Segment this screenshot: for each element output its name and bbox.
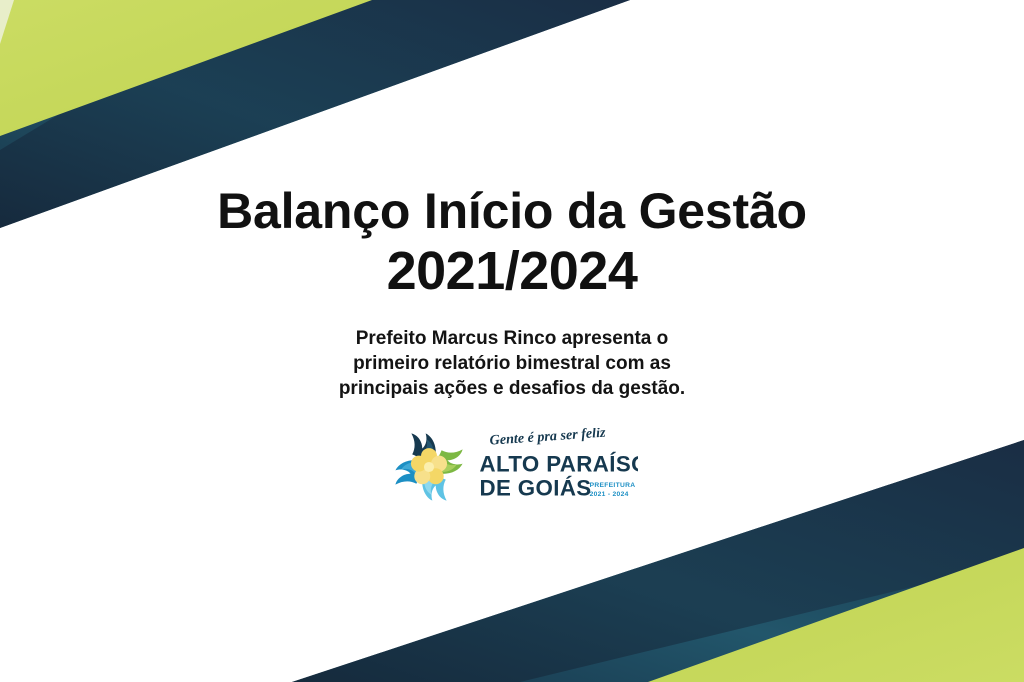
subtitle-line-1: Prefeito Marcus Rinco apresenta o [339,326,685,351]
title-line-1: Balanço Início da Gestão [217,186,807,236]
title-line-2: 2021/2024 [217,244,807,298]
logo-city-line-1: ALTO PARAÍSO [479,452,638,477]
logo-city-line-2: DE GOIÁS [479,476,591,501]
logo-wordmark: Gente é pra ser feliz ALTO PARAÍSO DE GO… [478,428,638,506]
subtitle-line-2: primeiro relatório bimestral com as [339,351,685,376]
subtitle-line-3: principais ações e desafios da gestão. [339,376,685,401]
page-title: Balanço Início da Gestão 2021/2024 [217,186,807,298]
slide-content: Balanço Início da Gestão 2021/2024 Prefe… [0,0,1024,682]
municipal-logo: Gente é pra ser feliz ALTO PARAÍSO DE GO… [386,425,638,509]
alto-paraiso-emblem-icon [386,425,472,509]
cover-slide: Balanço Início da Gestão 2021/2024 Prefe… [0,0,1024,682]
subtitle: Prefeito Marcus Rinco apresenta o primei… [339,326,685,401]
logo-script-tagline: Gente é pra ser feliz [489,428,606,449]
logo-org-label: PREFEITURA [590,482,636,489]
logo-term-years: 2021 - 2024 [590,491,629,498]
